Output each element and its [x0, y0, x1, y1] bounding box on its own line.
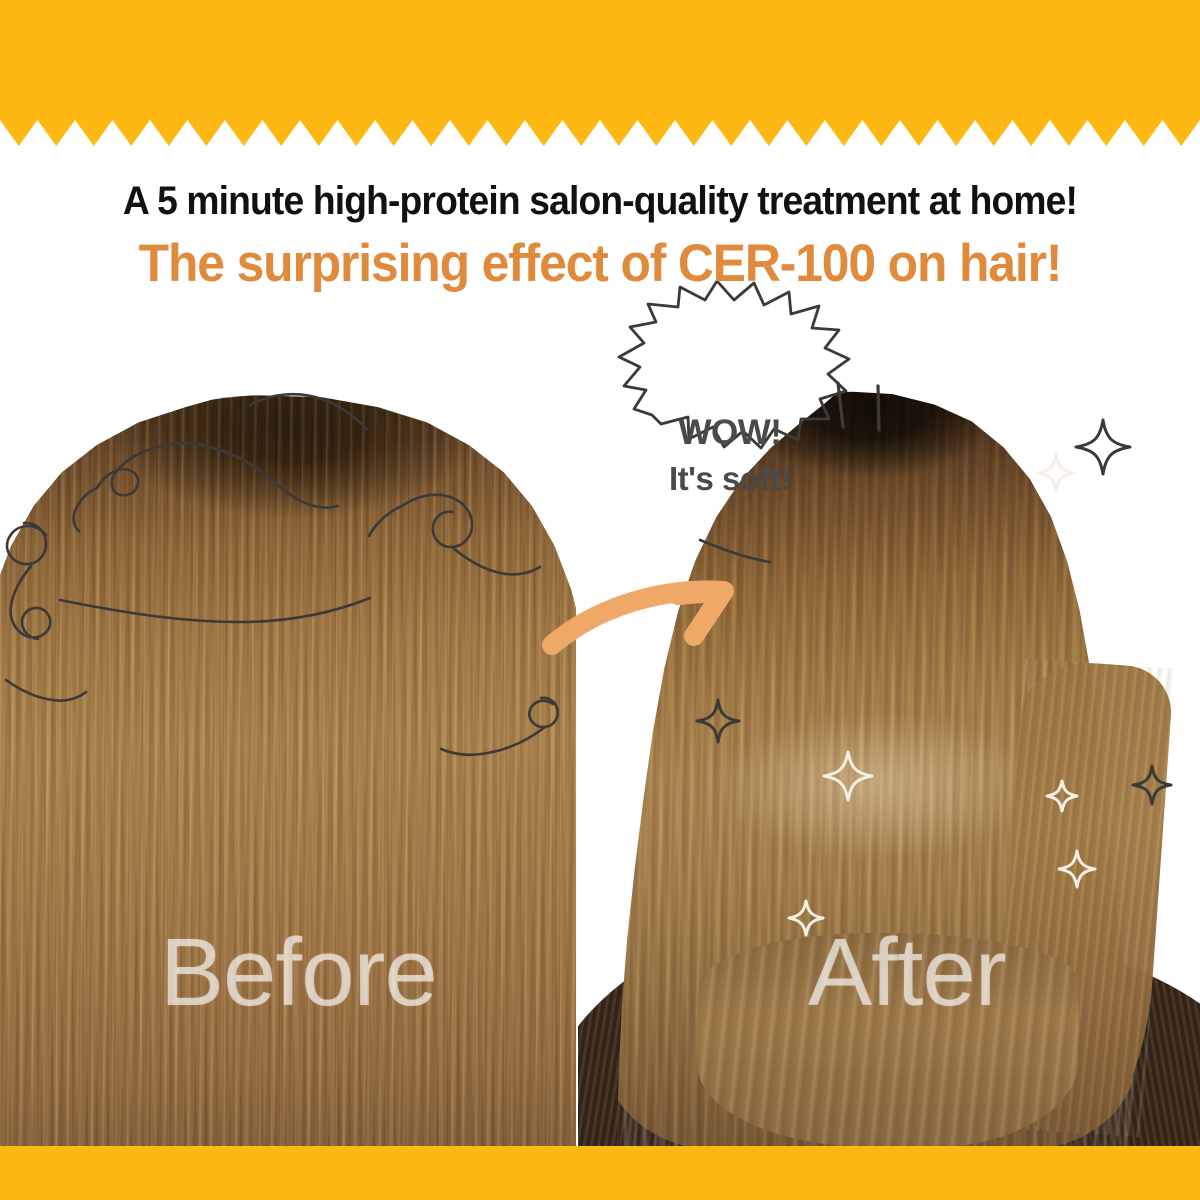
after-label: After: [808, 918, 1006, 1028]
before-hair-image: [0, 395, 576, 1146]
top-orange-banner: [0, 0, 1200, 146]
bottom-orange-banner: [0, 1146, 1200, 1200]
advertisement-canvas: · · · · · · · · · · · · · · · · · · · · …: [0, 0, 1200, 1200]
headline-block: A 5 minute high-protein salon-quality tr…: [0, 176, 1200, 296]
before-label: Before: [160, 918, 437, 1028]
speech-bubble-text: WOW! It's soft!: [612, 412, 848, 499]
headline-line-2: The surprising effect of CER-100 on hair…: [36, 232, 1164, 296]
speech-bubble-line1: WOW!: [612, 412, 848, 455]
hair-strand-texture-fine: [0, 395, 576, 1146]
speech-bubble-line2: It's soft!: [612, 459, 848, 499]
headline-line-1: A 5 minute high-protein salon-quality tr…: [42, 176, 1158, 226]
zigzag-edge: [0, 0, 1200, 146]
